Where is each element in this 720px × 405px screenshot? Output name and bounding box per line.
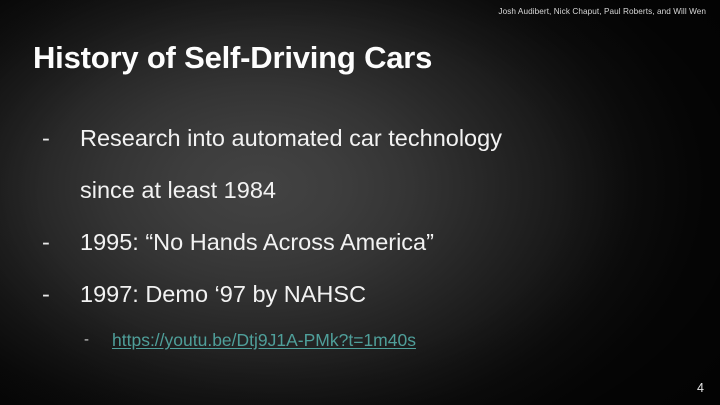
bullet-item-3: - 1997: Demo ‘97 by NAHSC: [0, 268, 720, 320]
bullet-marker-2: -: [42, 216, 50, 268]
bullet-text-2: 1995: “No Hands Across America”: [80, 229, 434, 255]
bullet-marker-3: -: [42, 268, 50, 320]
bullet-item-1-continuation: since at least 1984: [0, 164, 720, 216]
bullet-list: - Research into automated car technology…: [0, 112, 720, 360]
page-number: 4: [697, 381, 704, 395]
bullet-text-1-line1: Research into automated car technology: [80, 125, 502, 151]
author-credits: Josh Audibert, Nick Chaput, Paul Roberts…: [498, 6, 706, 17]
slide-title: History of Self-Driving Cars: [33, 40, 432, 76]
bullet-text-1-line2: since at least 1984: [80, 164, 720, 216]
slide: Josh Audibert, Nick Chaput, Paul Roberts…: [0, 0, 720, 405]
bullet-item-2: - 1995: “No Hands Across America”: [0, 216, 720, 268]
bullet-item-1: - Research into automated car technology: [0, 112, 720, 164]
bullet-text-3: 1997: Demo ‘97 by NAHSC: [80, 281, 366, 307]
sub-bullet-marker-1: -: [84, 320, 89, 360]
bullet-marker-1: -: [42, 112, 50, 164]
youtube-link[interactable]: https://youtu.be/Dtj9J1A-PMk?t=1m40s: [112, 330, 416, 350]
sub-bullet-item-1: - https://youtu.be/Dtj9J1A-PMk?t=1m40s: [0, 320, 720, 360]
